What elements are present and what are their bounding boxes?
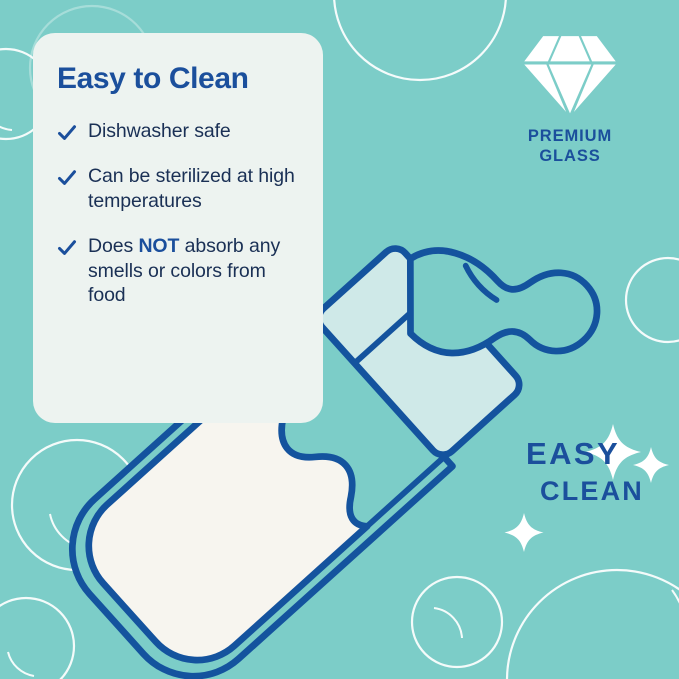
- easy-clean-wordmark: EASY CLEAN: [526, 438, 644, 505]
- bullet-text-1: Dishwasher safe: [88, 120, 231, 142]
- list-item: Dishwasher safe: [57, 119, 299, 144]
- feature-card: Easy to Clean Dishwasher safe Can be ste…: [33, 33, 323, 423]
- bullet-text-3a: Does: [88, 235, 138, 257]
- check-icon: [57, 238, 77, 258]
- bullet-text-3-emphasis: NOT: [138, 235, 179, 257]
- promo-image: Easy to Clean Dishwasher safe Can be ste…: [0, 0, 679, 679]
- check-icon: [57, 168, 77, 188]
- premium-glass-badge: PREMIUM GLASS: [500, 33, 640, 166]
- easy-clean-line-2: CLEAN: [540, 478, 644, 505]
- bullet-text-2: Can be sterilized at high temperatures: [88, 165, 295, 212]
- list-item-label: Can be sterilized at high temperatures: [88, 164, 299, 213]
- list-item-label: Dishwasher safe: [88, 119, 231, 144]
- list-item: Does NOT absorb any smells or colors fro…: [57, 234, 299, 308]
- easy-clean-line-1: EASY: [526, 438, 644, 469]
- premium-glass-label: PREMIUM GLASS: [500, 126, 640, 166]
- list-item-label: Does NOT absorb any smells or colors fro…: [88, 234, 299, 308]
- check-icon: [57, 123, 77, 143]
- premium-line-2: GLASS: [500, 146, 640, 166]
- premium-line-1: PREMIUM: [500, 126, 640, 146]
- page-title: Easy to Clean: [57, 63, 299, 95]
- list-item: Can be sterilized at high temperatures: [57, 164, 299, 213]
- feature-list: Dishwasher safe Can be sterilized at hig…: [57, 119, 299, 308]
- diamond-icon: [522, 33, 618, 115]
